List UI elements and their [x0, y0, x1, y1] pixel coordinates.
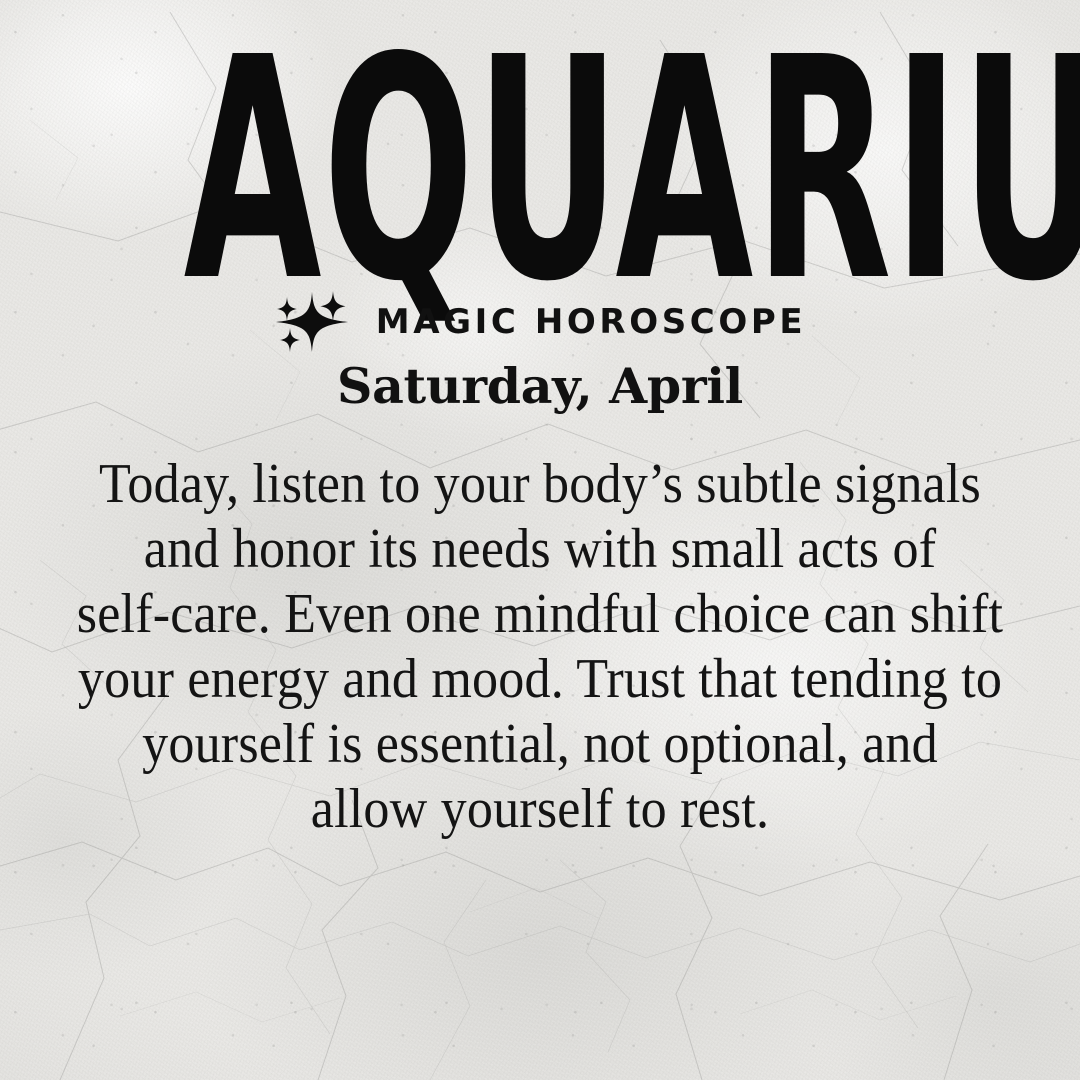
date-label: Saturday, April: [0, 362, 1080, 411]
brand-row: MAGIC HOROSCOPE: [0, 286, 1080, 358]
horoscope-line: your energy and mood. Trust that tending…: [75, 647, 1005, 712]
sparkle-star-cluster-icon: [274, 286, 350, 358]
horoscope-card: AQUARIUS MAGIC HOROSCOPE Saturday, April…: [0, 0, 1080, 1080]
horoscope-line: allow yourself to rest.: [75, 777, 1005, 842]
horoscope-body: Today, listen to your body’s subtle sign…: [40, 452, 1040, 842]
horoscope-line: and honor its needs with small acts of: [75, 517, 1005, 582]
brand-name: MAGIC HOROSCOPE: [376, 305, 806, 339]
horoscope-line: yourself is essential, not optional, and: [75, 712, 1005, 777]
page-title: AQUARIUS: [184, 18, 897, 324]
horoscope-line: self-care. Even one mindful choice can s…: [75, 582, 1005, 647]
horoscope-line: Today, listen to your body’s subtle sign…: [75, 452, 1005, 517]
